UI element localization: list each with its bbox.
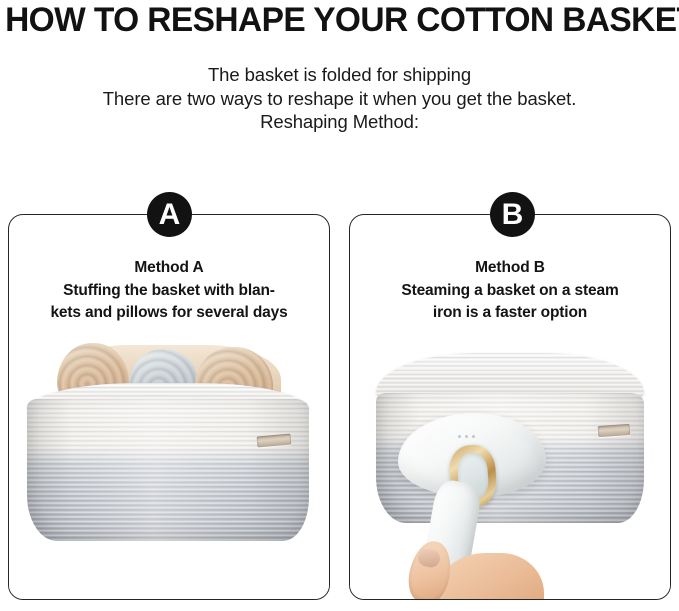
method-card-a: Method A Stuffing the basket with blan- … [8,214,330,600]
cotton-rope-basket [27,383,309,541]
basket-body [27,399,309,541]
method-b-photo [350,335,670,599]
method-a-photo [9,335,329,599]
basket-handle [598,424,631,437]
steamer-indicator-dots [458,435,475,438]
method-b-description: Steaming a basket on a steam iron is a f… [350,280,670,324]
indicator-dot [465,435,468,438]
method-cards: Method A Stuffing the basket with blan- … [0,0,679,611]
method-b-heading: Method B [350,259,670,277]
method-b-desc-line-1: Steaming a basket on a steam [350,280,670,302]
method-a-heading: Method A [9,259,329,277]
method-card-b: Method B Steaming a basket on a steam ir… [349,214,671,600]
indicator-dot [458,435,461,438]
method-a-description: Stuffing the basket with blan- kets and … [9,280,329,324]
method-a-badge: A [147,192,192,237]
method-b-desc-line-2: iron is a faster option [350,302,670,324]
method-a-desc-line-2: kets and pillows for several days [9,302,329,324]
method-b-badge: B [490,192,535,237]
indicator-dot [472,435,475,438]
method-a-desc-line-1: Stuffing the basket with blan- [9,280,329,302]
